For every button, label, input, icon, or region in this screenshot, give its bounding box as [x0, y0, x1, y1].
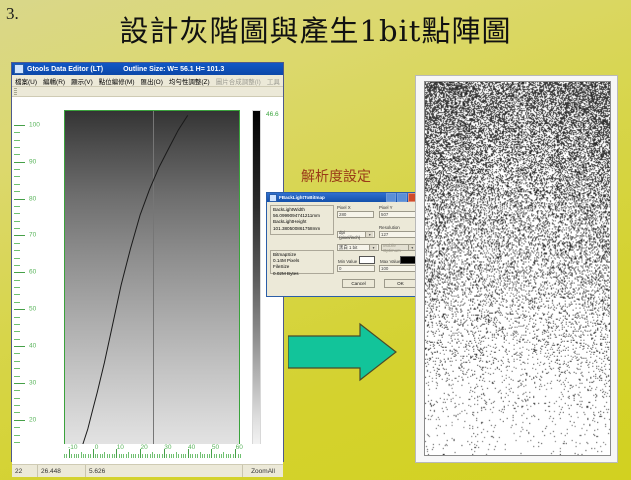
- x-axis-tick: [204, 454, 205, 458]
- x-axis-tick: [166, 454, 167, 458]
- chevron-down-icon[interactable]: ▾: [369, 245, 377, 250]
- editor-title-text: Gtools Data Editor (LT): [27, 66, 103, 73]
- pixel-x-label: Pixel X: [337, 205, 351, 210]
- x-axis-tick: [197, 454, 198, 458]
- dialog-title-text: FBackLightToBitmap: [279, 195, 325, 200]
- menu-item-view[interactable]: 顯示(V): [71, 76, 93, 86]
- colorbar-max-label: 46.6: [266, 111, 279, 118]
- x-axis-tick: [207, 454, 208, 458]
- x-axis-tick: [240, 454, 241, 458]
- status-cell-3: 5.626: [86, 465, 243, 477]
- dialog-app-icon: [269, 194, 277, 202]
- x-axis-tick: [123, 454, 124, 458]
- grayscale-colorbar: [252, 110, 261, 444]
- max-color-swatch[interactable]: [400, 256, 416, 264]
- x-axis-tick: [88, 454, 89, 458]
- x-axis-tick: [202, 454, 203, 458]
- backlight-dimensions-panel: BackLightWidth 56.0999094741211mm BackLi…: [270, 205, 334, 235]
- x-axis-tick: [90, 454, 91, 458]
- page-title: 設計灰階圖與產生1bit點陣圖: [0, 8, 631, 50]
- x-axis-tick: [216, 454, 217, 458]
- color-depth-value: 黑白 1 bit: [339, 245, 357, 251]
- dialog-titlebar[interactable]: FBackLightToBitmap: [267, 193, 420, 202]
- x-axis-tick: [109, 454, 110, 458]
- x-axis-tick: [152, 452, 153, 458]
- x-axis-tick: [223, 452, 224, 458]
- x-axis-tick: [185, 454, 186, 458]
- x-axis-tick: [230, 454, 231, 458]
- pixel-y-label: Pixel Y: [379, 205, 393, 210]
- x-axis-tick: [107, 454, 108, 458]
- chart-x-axis: -100102030405060: [12, 444, 283, 464]
- x-axis-tick: [93, 449, 94, 458]
- x-axis-tick: [219, 454, 220, 458]
- x-axis-tick: [104, 452, 105, 458]
- pixel-y-input[interactable]: 507: [379, 211, 416, 218]
- x-axis-tick: [171, 454, 172, 458]
- x-axis-label: 40: [188, 444, 195, 451]
- x-axis-tick: [114, 454, 115, 458]
- x-axis-tick: [81, 452, 82, 458]
- menu-item-point-edit[interactable]: 點位編修(M): [99, 76, 135, 86]
- x-axis-tick: [78, 454, 79, 458]
- mobile-optimum-dropdown: Mobile Optimum ▾: [381, 244, 417, 251]
- resolution-setting-annotation: 解析度設定: [301, 166, 371, 186]
- green-right-arrow: [288, 322, 398, 382]
- menu-item-file[interactable]: 檔案(U): [15, 76, 37, 86]
- x-axis-tick: [100, 454, 101, 458]
- x-axis-tick: [209, 454, 210, 458]
- x-axis-tick: [154, 454, 155, 458]
- x-axis-tick: [126, 454, 127, 458]
- min-value-label: Min Value: [338, 259, 357, 264]
- x-axis-tick: [74, 454, 75, 458]
- status-zoom-all[interactable]: ZoomAll: [243, 465, 283, 477]
- color-depth-dropdown[interactable]: 黑白 1 bit ▾: [337, 244, 379, 251]
- menu-item-uniformity[interactable]: 均勻性調整(Z): [169, 76, 210, 86]
- min-color-swatch[interactable]: [359, 256, 375, 264]
- x-axis-tick: [238, 454, 239, 458]
- resolution-label: Resolution: [379, 225, 400, 230]
- x-axis-tick: [173, 454, 174, 458]
- x-axis-tick: [192, 454, 193, 458]
- x-axis-label: 0: [95, 444, 99, 451]
- x-axis-tick: [128, 452, 129, 458]
- x-axis-tick: [159, 454, 160, 458]
- x-axis-tick: [178, 454, 179, 458]
- backlight-to-bitmap-dialog[interactable]: FBackLightToBitmap BackLightWidth 56.099…: [266, 192, 421, 297]
- minimize-icon[interactable]: [386, 193, 396, 202]
- x-axis-tick: [112, 454, 113, 458]
- editor-titlebar[interactable]: Gtools Data Editor (LT) Outline Size: W=…: [12, 63, 283, 75]
- toolbar-grip[interactable]: [14, 88, 17, 95]
- x-axis-tick: [135, 454, 136, 458]
- x-axis-tick: [162, 454, 163, 458]
- menu-item-tools: 工具: [267, 76, 280, 86]
- x-axis-tick: [195, 454, 196, 458]
- x-axis-tick: [102, 454, 103, 458]
- x-axis-tick: [142, 454, 143, 458]
- menu-item-image-compose: 圖片合成調整(I): [216, 76, 261, 86]
- x-axis-tick: [181, 454, 182, 458]
- gtools-editor-window[interactable]: Gtools Data Editor (LT) Outline Size: W=…: [11, 62, 284, 462]
- maximize-icon[interactable]: [397, 193, 407, 202]
- editor-outline-size: Outline Size: W= 56.1 H= 101.3: [123, 66, 224, 73]
- status-cell-2: 26.448: [38, 465, 86, 477]
- x-axis-tick: [176, 452, 177, 458]
- file-size-value: 0.02M Bytes: [273, 271, 331, 277]
- editor-menubar[interactable]: 檔案(U) 編輯(R) 顯示(V) 點位編修(M) 匯出(O) 均勻性調整(Z)…: [12, 75, 283, 87]
- x-axis-label: 30: [164, 444, 171, 451]
- x-axis-tick: [119, 454, 120, 458]
- mobile-optimum-value: Mobile Optimum: [383, 243, 408, 253]
- dialog-body: BackLightWidth 56.0999094741211mm BackLi…: [267, 202, 420, 298]
- x-axis-label: 50: [212, 444, 219, 451]
- x-axis-tick: [214, 454, 215, 458]
- x-axis-tick: [147, 454, 148, 458]
- max-value-label: Max Value: [380, 259, 400, 264]
- editor-statusbar: 22 26.448 5.626 ZoomAll: [12, 464, 283, 477]
- x-axis-tick: [183, 454, 184, 458]
- x-axis-tick: [200, 452, 201, 458]
- x-axis-tick: [157, 454, 158, 458]
- chart-plot-area[interactable]: 0102030405060708090100 46.6 0: [12, 97, 283, 444]
- x-axis-tick: [131, 454, 132, 458]
- unit-dropdown-value: dpi (pixel/inch): [339, 230, 365, 240]
- x-axis-tick: [169, 454, 170, 458]
- x-axis-tick: [97, 454, 98, 458]
- chart-curves: [12, 97, 283, 444]
- cancel-button[interactable]: Cancel: [342, 279, 375, 288]
- app-icon: [14, 64, 24, 74]
- x-axis-tick: [85, 454, 86, 458]
- dithered-bitmap-preview: [424, 81, 611, 456]
- x-axis-label: 10: [117, 444, 124, 451]
- x-axis-tick: [228, 454, 229, 458]
- bitmap-size-panel: BitmapSize 0.14M Pixels FileSize 0.02M B…: [270, 250, 334, 274]
- x-axis-tick: [95, 454, 96, 458]
- x-axis-label: 20: [140, 444, 147, 451]
- x-axis-tick: [121, 454, 122, 458]
- ok-button[interactable]: OK: [384, 279, 417, 288]
- x-axis-tick: [145, 454, 146, 458]
- menu-item-edit[interactable]: 編輯(R): [43, 76, 65, 86]
- x-axis-tick: [133, 454, 134, 458]
- chart-series-luminance-profile: [66, 115, 187, 444]
- backlight-height-value: 101.380500861758mm: [273, 226, 331, 232]
- x-axis-tick: [83, 454, 84, 458]
- dithered-bitmap-window[interactable]: [415, 75, 618, 463]
- pixel-x-input[interactable]: 280: [337, 211, 374, 218]
- chevron-down-icon[interactable]: ▾: [365, 232, 373, 237]
- x-axis-tick: [64, 454, 65, 458]
- status-cell-1: 22: [12, 465, 38, 477]
- x-axis-tick: [233, 454, 234, 458]
- max-value-input[interactable]: 100: [379, 265, 417, 272]
- x-axis-tick: [138, 454, 139, 458]
- menu-item-export[interactable]: 匯出(O): [140, 76, 162, 86]
- x-axis-label: 60: [236, 444, 243, 451]
- min-value-input[interactable]: 0: [337, 265, 375, 272]
- x-axis-tick: [150, 454, 151, 458]
- x-axis-tick: [226, 454, 227, 458]
- x-axis-label: -10: [68, 444, 77, 451]
- unit-dropdown[interactable]: dpi (pixel/inch) ▾: [337, 231, 375, 238]
- x-axis-tick: [66, 454, 67, 458]
- x-axis-tick: [190, 454, 191, 458]
- resolution-input[interactable]: 127: [379, 231, 416, 238]
- editor-toolbar[interactable]: [12, 87, 283, 97]
- x-axis-tick: [71, 454, 72, 458]
- x-axis-tick: [76, 454, 77, 458]
- x-axis-tick: [221, 454, 222, 458]
